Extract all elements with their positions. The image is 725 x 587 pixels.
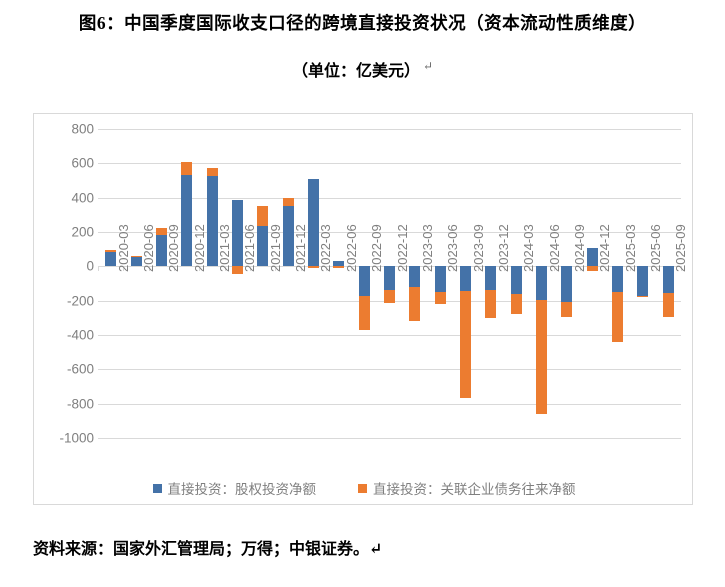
bar-segment-debt[interactable] xyxy=(283,198,294,207)
bar-group[interactable] xyxy=(409,129,420,438)
x-axis-tick-label: 2022-03 xyxy=(318,225,333,273)
bar-group[interactable] xyxy=(257,129,268,438)
bar-group[interactable] xyxy=(511,129,522,438)
chart-container: 8006004002000-200-400-600-800-1000 2020-… xyxy=(33,113,693,505)
gridline xyxy=(98,438,681,439)
bar-group[interactable] xyxy=(131,129,142,438)
x-axis-tick-label: 2020-09 xyxy=(166,225,181,273)
plot-area: 2020-032020-062020-092020-122021-032021-… xyxy=(98,129,681,438)
figure-subtitle-text: （单位：亿美元） xyxy=(292,63,420,80)
y-axis-tick-label: -800 xyxy=(40,396,94,411)
legend-item[interactable]: 直接投资：股权投资净额 xyxy=(153,478,317,498)
y-axis-tick-label: -1000 xyxy=(40,431,94,446)
bar-segment-equity[interactable] xyxy=(536,266,547,299)
source-note-text: 资料来源：国家外汇管理局；万得；中银证券。↵ xyxy=(33,541,382,558)
bar-group[interactable] xyxy=(308,129,319,438)
bar-group[interactable] xyxy=(181,129,192,438)
x-axis-tick-label: 2023-06 xyxy=(445,225,460,273)
y-axis-tick-label: 200 xyxy=(40,225,94,240)
legend-swatch-debt-icon xyxy=(358,484,367,493)
x-axis-tick-label: 2020-12 xyxy=(192,225,207,273)
x-axis-tick-label: 2024-12 xyxy=(597,225,612,273)
bar-segment-debt[interactable] xyxy=(561,302,572,317)
bar-segment-equity[interactable] xyxy=(612,266,623,292)
y-axis-tick-label: -600 xyxy=(40,362,94,377)
bar-segment-debt[interactable] xyxy=(131,256,142,257)
y-axis-tick-label: -200 xyxy=(40,293,94,308)
x-axis-tick-label: 2024-06 xyxy=(547,225,562,273)
x-axis-tick-label: 2022-09 xyxy=(369,225,384,273)
bar-segment-debt[interactable] xyxy=(333,266,344,268)
bar-segment-equity[interactable] xyxy=(207,176,218,266)
x-axis-tick-label: 2025-09 xyxy=(673,225,688,273)
bar-segment-debt[interactable] xyxy=(637,296,648,298)
x-axis-tick-label: 2023-09 xyxy=(471,225,486,273)
x-axis-tick-label: 2024-03 xyxy=(521,225,536,273)
bar-group[interactable] xyxy=(536,129,547,438)
bar-segment-debt[interactable] xyxy=(181,162,192,175)
bar-segment-debt[interactable] xyxy=(460,291,471,397)
bar-group[interactable] xyxy=(663,129,674,438)
bar-segment-debt[interactable] xyxy=(257,206,268,226)
bar-segment-debt[interactable] xyxy=(612,292,623,342)
bar-segment-debt[interactable] xyxy=(384,290,395,303)
x-axis-tick-label: 2020-06 xyxy=(141,225,156,273)
pilcrow-mark: ↵ xyxy=(420,59,433,73)
bar-group[interactable] xyxy=(587,129,598,438)
x-axis-tick-label: 2025-03 xyxy=(623,225,638,273)
bar-segment-debt[interactable] xyxy=(435,292,446,304)
figure-title-text: 图6：中国季度国际收支口径的跨境直接投资状况（资本流动性质维度） xyxy=(79,13,646,33)
x-axis-tick-label: 2021-09 xyxy=(268,225,283,273)
bar-segment-debt[interactable] xyxy=(207,168,218,177)
bar-segment-equity[interactable] xyxy=(561,266,572,301)
legend-swatch-equity-icon xyxy=(153,484,162,493)
y-axis-tick-label: 400 xyxy=(40,190,94,205)
x-axis-tick-label: 2021-03 xyxy=(217,225,232,273)
y-axis-tick-labels: 8006004002000-200-400-600-800-1000 xyxy=(34,129,94,438)
bar-segment-debt[interactable] xyxy=(409,287,420,321)
bar-segment-debt[interactable] xyxy=(485,290,496,318)
x-axis-tick-label: 2024-09 xyxy=(572,225,587,273)
x-axis-tick-label: 2023-03 xyxy=(420,225,435,273)
y-axis-tick-label: 0 xyxy=(40,259,94,274)
bar-segment-debt[interactable] xyxy=(663,293,674,317)
legend-item[interactable]: 直接投资：关联企业债务往来净额 xyxy=(358,478,576,498)
bar-segment-equity[interactable] xyxy=(460,266,471,291)
bar-group[interactable] xyxy=(561,129,572,438)
bar-group[interactable] xyxy=(333,129,344,438)
bar-segment-debt[interactable] xyxy=(511,294,522,315)
x-axis-tick-label: 2025-06 xyxy=(648,225,663,273)
bar-group[interactable] xyxy=(105,129,116,438)
x-axis-tick-label: 2023-12 xyxy=(496,225,511,273)
x-axis-tick-label: 2021-06 xyxy=(242,225,257,273)
bar-segment-equity[interactable] xyxy=(283,206,294,266)
bar-group[interactable] xyxy=(612,129,623,438)
legend-label: 直接投资：股权投资净额 xyxy=(168,478,317,498)
figure-subtitle: （单位：亿美元）↵ xyxy=(0,35,725,81)
x-axis-tick-label: 2020-03 xyxy=(116,225,131,273)
bar-group[interactable] xyxy=(232,129,243,438)
bar-group[interactable] xyxy=(359,129,370,438)
legend-label: 直接投资：关联企业债务往来净额 xyxy=(373,478,576,498)
source-note: 资料来源：国家外汇管理局；万得；中银证券。↵ xyxy=(33,535,382,559)
bar-group[interactable] xyxy=(156,129,167,438)
bar-group[interactable] xyxy=(207,129,218,438)
bar-segment-equity[interactable] xyxy=(384,266,395,290)
bar-group[interactable] xyxy=(435,129,446,438)
y-axis-tick-label: 600 xyxy=(40,156,94,171)
chart-plot-wrapper: 8006004002000-200-400-600-800-1000 2020-… xyxy=(34,114,694,506)
bar-segment-equity[interactable] xyxy=(637,266,648,295)
bar-segment-debt[interactable] xyxy=(105,250,116,252)
bar-group[interactable] xyxy=(460,129,471,438)
bar-series-group xyxy=(98,129,681,438)
bar-segment-equity[interactable] xyxy=(105,252,116,267)
y-axis-tick-label: -400 xyxy=(40,328,94,343)
figure-title: 图6：中国季度国际收支口径的跨境直接投资状况（资本流动性质维度） xyxy=(0,0,725,35)
x-axis-tick-label: 2021-12 xyxy=(293,225,308,273)
bar-group[interactable] xyxy=(384,129,395,438)
bar-segment-equity[interactable] xyxy=(131,256,142,266)
bar-segment-equity[interactable] xyxy=(359,266,370,296)
y-axis-tick-label: 800 xyxy=(40,122,94,137)
bar-segment-equity[interactable] xyxy=(485,266,496,289)
x-axis-tick-label: 2022-06 xyxy=(344,225,359,273)
chart-legend: 直接投资：股权投资净额直接投资：关联企业债务往来净额 xyxy=(34,478,694,498)
bar-group[interactable] xyxy=(637,129,648,438)
bar-segment-equity[interactable] xyxy=(409,266,420,287)
bar-segment-equity[interactable] xyxy=(257,226,268,267)
x-axis-tick-label: 2022-12 xyxy=(395,225,410,273)
bar-segment-debt[interactable] xyxy=(359,296,370,329)
bar-group[interactable] xyxy=(283,129,294,438)
bar-segment-equity[interactable] xyxy=(181,175,192,266)
bar-group[interactable] xyxy=(485,129,496,438)
bar-segment-debt[interactable] xyxy=(536,300,547,414)
